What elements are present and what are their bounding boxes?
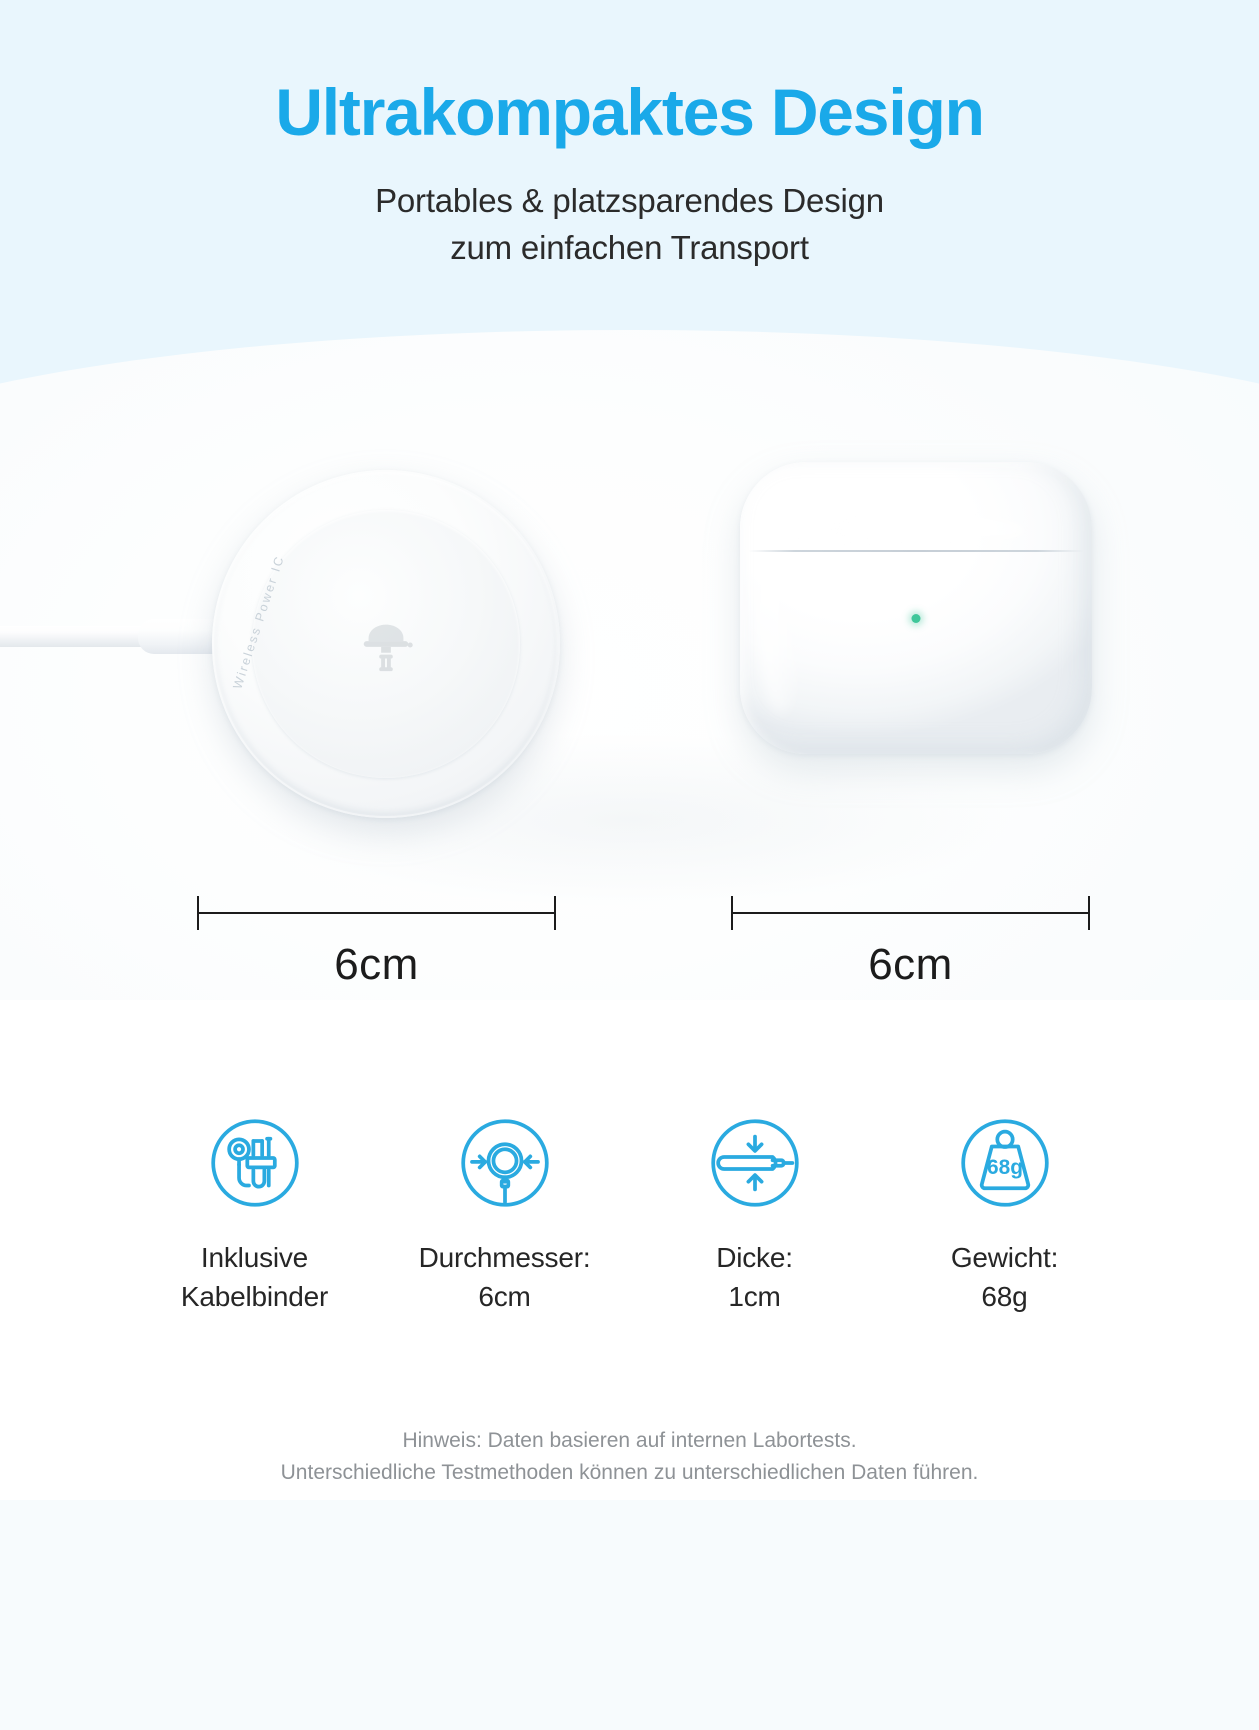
feature-item-thickness: Dicke: 1cm xyxy=(630,1108,880,1316)
feature-item-cable-tie: Inklusive Kabelbinder xyxy=(130,1108,380,1316)
dimension-line xyxy=(197,890,556,936)
feature-item-weight: 68g Gewicht: 68g xyxy=(880,1108,1130,1316)
dimension-case-width: 6cm xyxy=(731,890,1090,990)
case-left-highlight xyxy=(758,514,804,714)
diameter-icon xyxy=(450,1108,560,1218)
feature-label: Dicke: 1cm xyxy=(716,1239,793,1316)
dimension-bar xyxy=(731,912,1090,914)
dimension-value: 6cm xyxy=(197,940,556,990)
dimension-callouts: 6cm 6cm xyxy=(0,890,1259,1010)
cable-cord xyxy=(0,626,160,647)
page-title: Ultrakompaktes Design xyxy=(0,78,1259,148)
dimension-charger-width: 6cm xyxy=(197,890,556,990)
weight-badge-text: 68g xyxy=(987,1156,1023,1179)
dimension-end-cap-right xyxy=(1088,896,1090,930)
dimension-value: 6cm xyxy=(731,940,1090,990)
footer-disclaimer: Hinweis: Daten basieren auf internen Lab… xyxy=(0,1425,1259,1488)
earbuds-charging-case xyxy=(740,462,1092,754)
feature-label: Durchmesser: 6cm xyxy=(419,1239,591,1316)
footer-line-2: Unterschiedliche Testmethoden können zu … xyxy=(0,1457,1259,1489)
qi-logo-icon xyxy=(355,613,417,675)
footer-line-1: Hinweis: Daten basieren auf internen Lab… xyxy=(0,1425,1259,1457)
feature-label: Gewicht: 68g xyxy=(951,1239,1058,1316)
feature-list: Inklusive Kabelbinder Durchmesser: xyxy=(0,1108,1259,1348)
dimension-end-cap-right xyxy=(554,896,556,930)
case-top-highlight xyxy=(826,514,1026,548)
feature-item-diameter: Durchmesser: 6cm xyxy=(380,1108,630,1316)
subtitle-line-1: Portables & platzsparendes Design xyxy=(0,178,1259,225)
case-lid-seam xyxy=(748,550,1084,552)
case-status-led xyxy=(912,614,921,623)
dimension-bar xyxy=(197,912,556,914)
weight-icon: 68g xyxy=(950,1108,1060,1218)
header: Ultrakompaktes Design Portables & platzs… xyxy=(0,0,1259,272)
product-showcase: Wireless Power IC xyxy=(0,440,1259,860)
wireless-charging-pad: Wireless Power IC xyxy=(212,470,560,818)
thickness-icon xyxy=(700,1108,810,1218)
subtitle-line-2: zum einfachen Transport xyxy=(0,225,1259,272)
dimension-line xyxy=(731,890,1090,936)
feature-label: Inklusive Kabelbinder xyxy=(181,1239,328,1316)
page-subtitle: Portables & platzsparendes Design zum ei… xyxy=(0,178,1259,272)
cable-tie-icon xyxy=(200,1108,310,1218)
